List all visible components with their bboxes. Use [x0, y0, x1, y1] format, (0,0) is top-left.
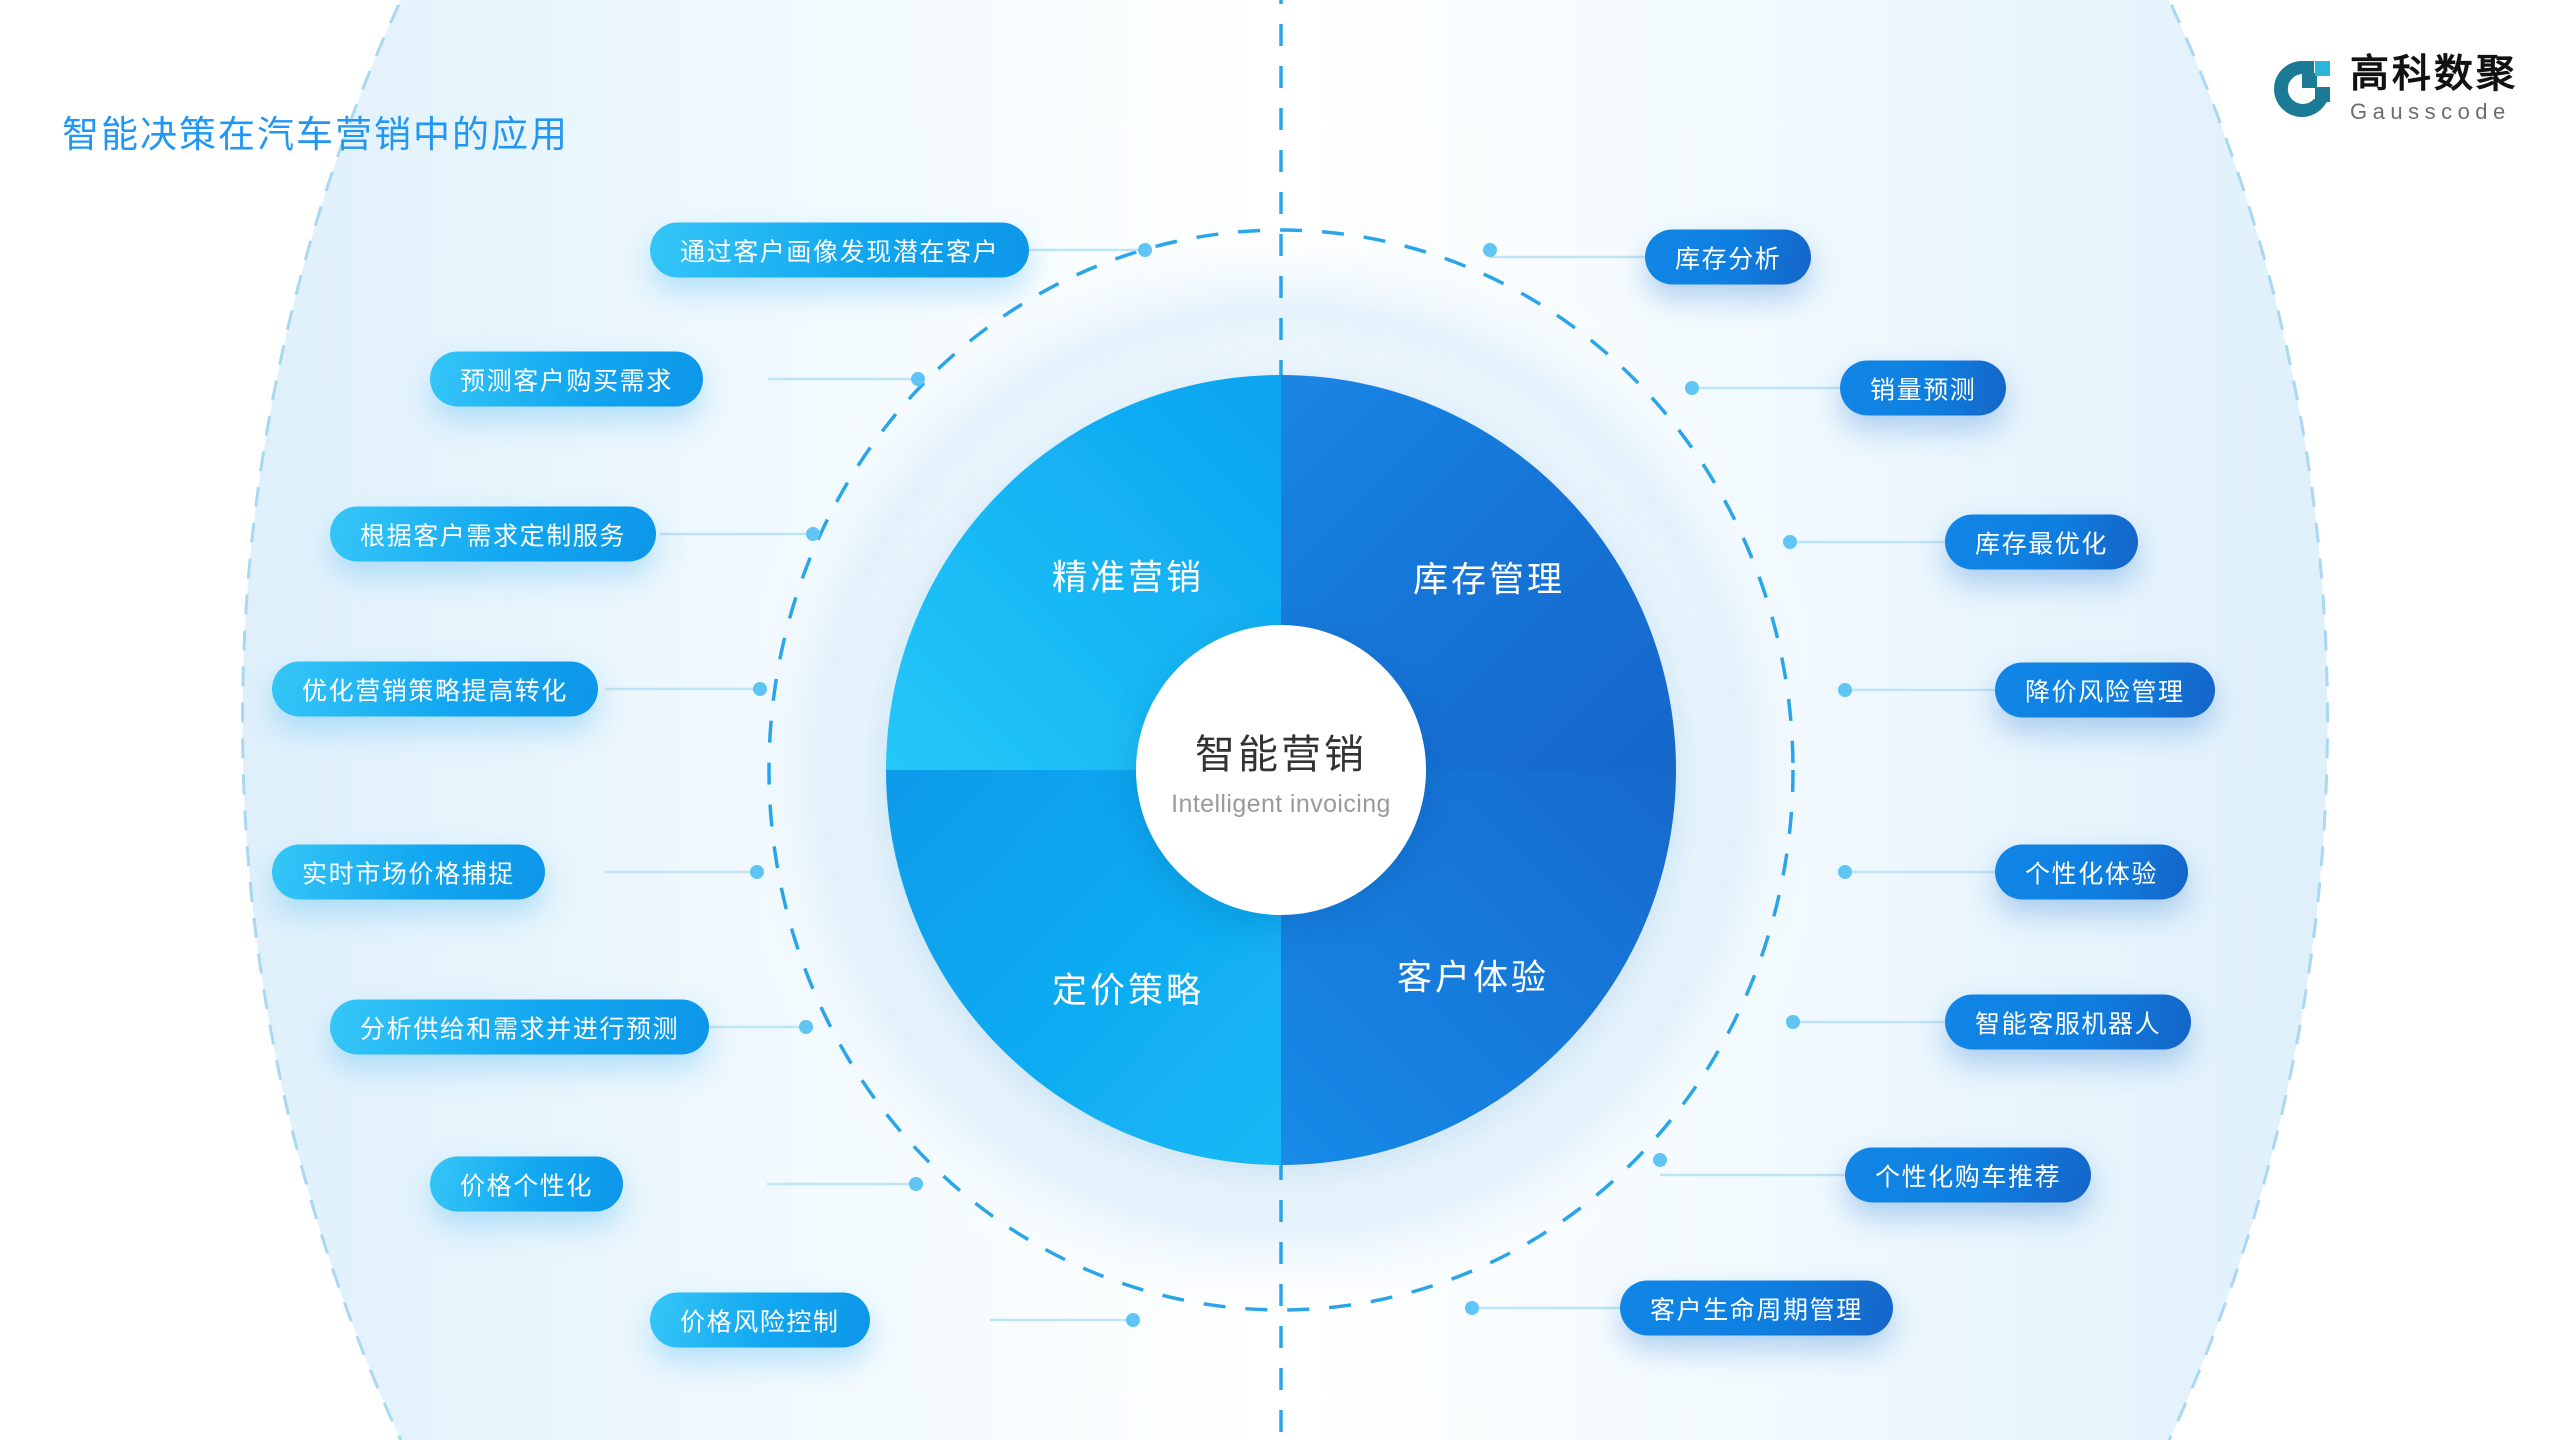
brand-logo: 高科数聚 Gausscode: [2272, 55, 2518, 123]
quadrant-label-right-1: 库存管理: [1413, 552, 1565, 603]
center-badge: 智能营销 Intelligent invoicing: [1136, 625, 1426, 915]
gausscode-g-mark-icon: [2272, 59, 2332, 119]
right-node-pill[interactable]: 降价风险管理: [1995, 663, 2215, 718]
brand-name-en: Gausscode: [2350, 101, 2518, 123]
left-node-pill[interactable]: 实时市场价格捕捉: [272, 845, 545, 900]
right-node-pill[interactable]: 智能客服机器人: [1945, 995, 2191, 1050]
center-title-cn: 智能营销: [1195, 722, 1367, 780]
brand-wordmark: 高科数聚 Gausscode: [2350, 55, 2518, 123]
right-node-pill[interactable]: 库存最优化: [1945, 515, 2138, 570]
page-title: 智能决策在汽车营销中的应用: [62, 104, 569, 158]
infographic-canvas: 精准营销库存管理定价策略客户体验 智能营销 Intelligent invoic…: [0, 0, 2560, 1440]
brand-name-cn: 高科数聚: [2350, 55, 2518, 94]
left-node-pill[interactable]: 价格个性化: [430, 1157, 623, 1212]
quadrant-label-left-0: 精准营销: [1052, 550, 1204, 601]
right-node-pill[interactable]: 销量预测: [1840, 361, 2006, 416]
left-node-pill[interactable]: 价格风险控制: [650, 1293, 870, 1348]
right-node-pill[interactable]: 个性化购车推荐: [1845, 1148, 2091, 1203]
left-node-pill[interactable]: 分析供给和需求并进行预测: [330, 1000, 709, 1055]
center-title-en: Intelligent invoicing: [1171, 790, 1391, 819]
right-node-pill[interactable]: 库存分析: [1645, 230, 1811, 285]
quadrant-label-left-2: 定价策略: [1052, 963, 1204, 1014]
left-node-pill[interactable]: 根据客户需求定制服务: [330, 507, 656, 562]
left-node-pill[interactable]: 预测客户购买需求: [430, 352, 703, 407]
right-node-pill[interactable]: 客户生命周期管理: [1620, 1281, 1893, 1336]
quadrant-label-right-3: 客户体验: [1397, 950, 1549, 1001]
left-node-pill[interactable]: 通过客户画像发现潜在客户: [650, 223, 1029, 278]
right-node-pill[interactable]: 个性化体验: [1995, 845, 2188, 900]
left-node-pill[interactable]: 优化营销策略提高转化: [272, 662, 598, 717]
